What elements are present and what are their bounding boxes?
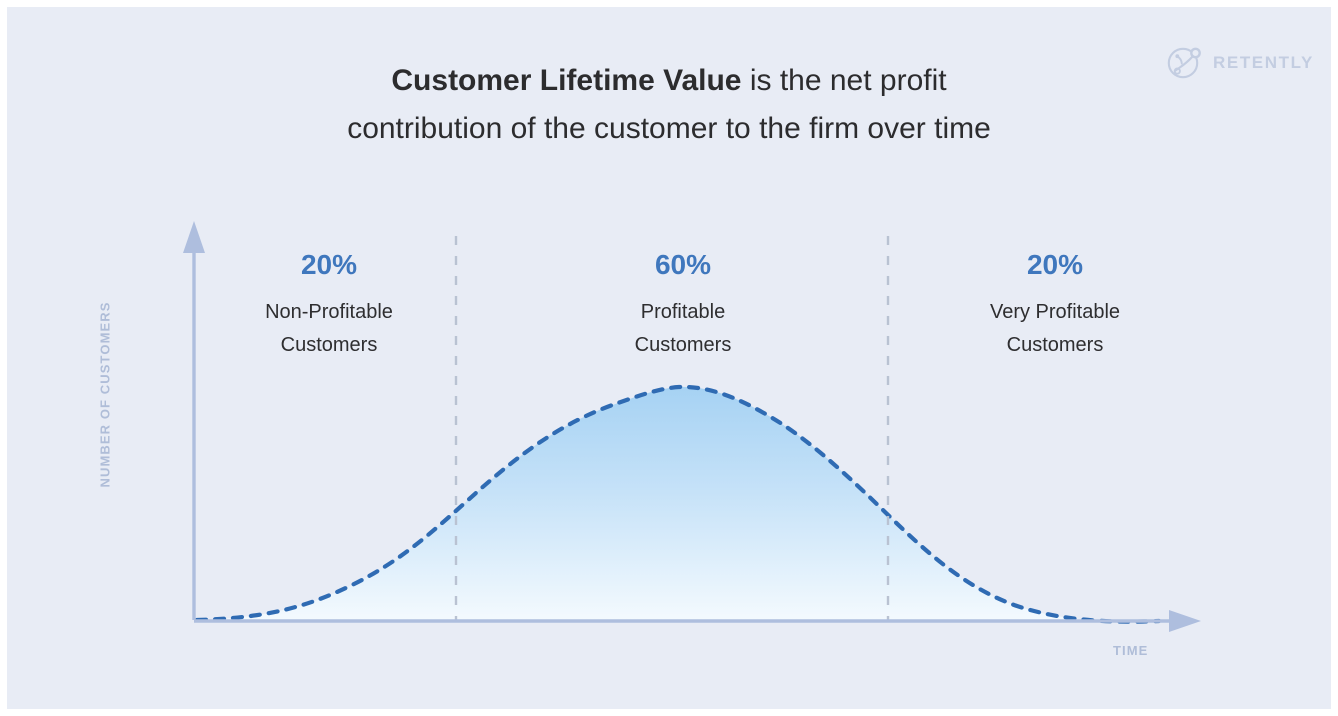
x-axis-title: TIME — [1113, 643, 1148, 658]
infographic-canvas: RETENTLY Customer Lifetime Value is the … — [0, 0, 1338, 716]
segment-label-line-1: Non-Profitable — [201, 296, 457, 329]
segment-profitable: 60% Profitable Customers — [559, 251, 807, 362]
curve-area-fill — [197, 387, 1159, 622]
segment-label-line-1: Profitable — [559, 296, 807, 329]
y-axis-arrowhead — [183, 221, 205, 253]
segment-percent: 60% — [559, 251, 807, 279]
segment-percent: 20% — [927, 251, 1183, 279]
segment-label: Non-Profitable Customers — [201, 296, 457, 362]
segment-label-line-2: Customers — [559, 329, 807, 362]
segment-label-line-2: Customers — [201, 329, 457, 362]
segment-percent: 20% — [201, 251, 457, 279]
segment-very-profitable: 20% Very Profitable Customers — [927, 251, 1183, 362]
chart-background: RETENTLY Customer Lifetime Value is the … — [7, 7, 1331, 709]
x-axis-arrowhead — [1169, 610, 1201, 632]
segment-label: Profitable Customers — [559, 296, 807, 362]
y-axis-title: NUMBER OF CUSTOMERS — [98, 285, 113, 505]
segment-label-line-1: Very Profitable — [927, 296, 1183, 329]
segment-label: Very Profitable Customers — [927, 296, 1183, 362]
segment-non-profitable: 20% Non-Profitable Customers — [201, 251, 457, 362]
segment-label-line-2: Customers — [927, 329, 1183, 362]
